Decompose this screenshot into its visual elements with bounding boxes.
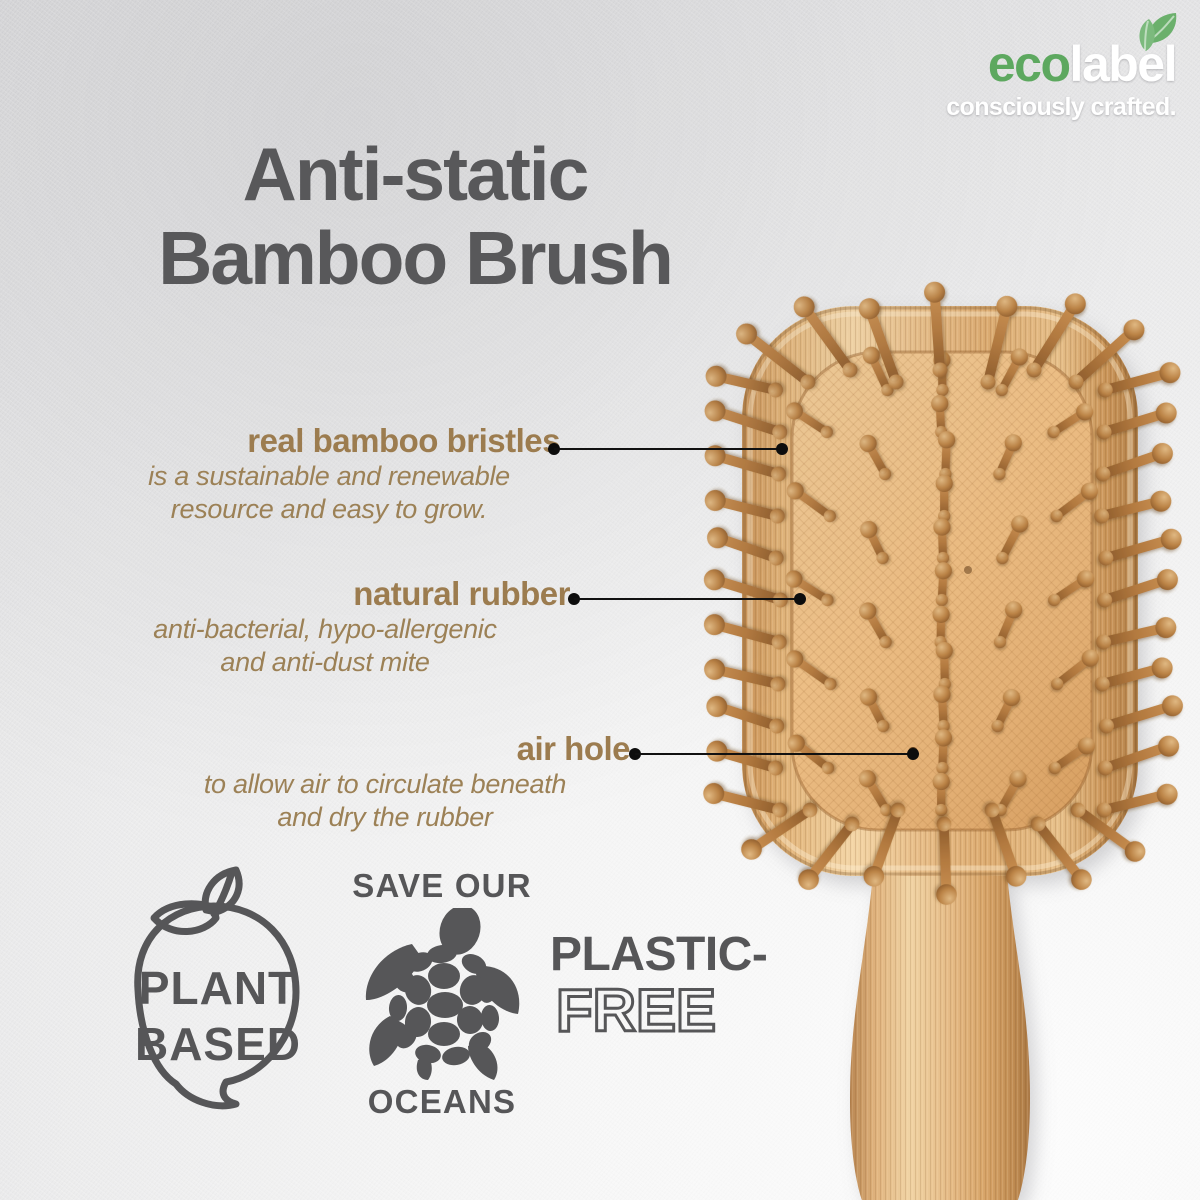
leader-line-stroke xyxy=(635,753,913,755)
feature-description-line-2: resource and easy to grow. xyxy=(98,493,560,526)
badge-plastic-line-1: PLASTIC- xyxy=(550,930,780,980)
feature-title: air hole xyxy=(140,730,630,768)
feature-description: to allow air to circulate beneath and dr… xyxy=(140,768,630,834)
leader-dot-end xyxy=(907,748,919,760)
feature-callout-rubber: natural rubber anti-bacterial, hypo-alle… xyxy=(80,575,570,679)
feature-description-line-1: anti-bacterial, hypo-allergenic xyxy=(80,613,570,646)
brand-name: ecolabel xyxy=(876,38,1176,90)
leader-line-stroke xyxy=(554,448,782,450)
feature-callout-bristles: real bamboo bristles is a sustainable an… xyxy=(60,422,560,526)
brand-logo[interactable]: ecolabel consciously crafted. xyxy=(876,38,1176,138)
feature-title: real bamboo bristles xyxy=(60,422,560,460)
brand-name-eco: eco xyxy=(988,36,1070,92)
page-title-line-2: Bamboo Brush xyxy=(0,216,830,300)
leader-dot-end xyxy=(776,443,788,455)
certification-badges: PLANT BASED SAVE OUR xyxy=(110,858,790,1138)
leader-line-stroke xyxy=(574,598,800,600)
brand-tagline: consciously crafted. xyxy=(876,92,1176,122)
page-title: Anti-static Bamboo Brush xyxy=(0,132,830,300)
leader-line-bristles xyxy=(548,442,788,456)
page-title-line-1: Anti-static xyxy=(0,132,830,216)
leader-line-air-hole xyxy=(629,747,919,761)
feature-description: anti-bacterial, hypo-allergenic and anti… xyxy=(80,613,570,679)
feature-description-line-2: and dry the rubber xyxy=(140,801,630,834)
feature-description: is a sustainable and renewable resource … xyxy=(60,460,560,526)
badge-plastic-line-2: FREE xyxy=(556,980,780,1042)
feature-description-line-1: to allow air to circulate beneath xyxy=(140,768,630,801)
svg-text:PLANT: PLANT xyxy=(139,962,297,1014)
leader-line-rubber xyxy=(568,592,806,606)
badge-ocean-line-1: SAVE OUR xyxy=(342,868,542,904)
feature-title: natural rubber xyxy=(80,575,570,613)
badge-plant-based: PLANT BASED xyxy=(110,862,320,1112)
badge-plastic-free: PLASTIC- FREE xyxy=(550,930,780,1070)
badge-ocean-line-2: OCEANS xyxy=(342,1084,542,1120)
infographic-canvas: ecolabel consciously crafted. Anti-stati… xyxy=(0,0,1200,1200)
feature-description-line-1: is a sustainable and renewable xyxy=(98,460,560,493)
feature-callout-air-hole: air hole to allow air to circulate benea… xyxy=(140,730,630,834)
badge-save-our-oceans: SAVE OUR xyxy=(342,868,542,1120)
sea-turtle-icon xyxy=(356,908,528,1083)
leaf-icon xyxy=(1118,10,1182,68)
leader-dot-end xyxy=(794,593,806,605)
feature-description-line-2: and anti-dust mite xyxy=(80,646,570,679)
svg-text:BASED: BASED xyxy=(135,1018,301,1070)
